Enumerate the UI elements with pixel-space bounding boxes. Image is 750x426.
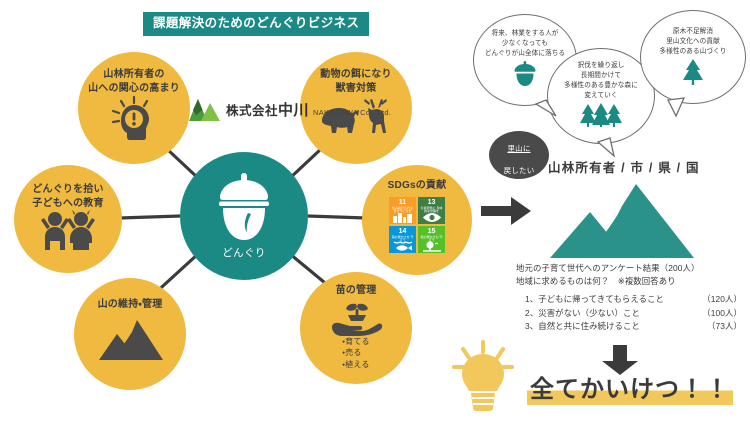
dark-bubble-text: 里山に 戻したい (504, 133, 535, 177)
down-arrow-icon (601, 345, 639, 380)
node-bullets: ・育てる ・売る ・植える (342, 336, 370, 371)
company-main-name: 中川 (278, 102, 309, 119)
survey-item: 1、子どもに帰ってきてもらえること （120人） (516, 293, 742, 307)
node-children-education[interactable]: どんぐりを拾い 子どもへの教育 (14, 165, 122, 273)
node-title: 山林所有者の 山への関心の高まり (88, 68, 180, 95)
eye-icon (418, 212, 445, 223)
node-title: どんぐりを拾い 子どもへの教育 (32, 183, 103, 210)
bubble-text: 原木不足解消 里山文化への貢献 多様性のある山づくり (660, 27, 727, 57)
speech-bubble-selective-logging: 択伐を繰り返し 長期間かけて 多様性のある豊かな森に 変えていく (547, 48, 655, 144)
node-title: 苗の管理 (336, 284, 377, 298)
mountain-icon (97, 318, 163, 360)
stakeholders-label: 山林所有者 / 市 / 県 / 国 (548, 157, 700, 176)
node-forest-owner-interest[interactable]: 山林所有者の 山への関心の高まり (78, 52, 190, 164)
sdg-number: 11 (391, 199, 414, 206)
right-arrow-icon (481, 196, 531, 231)
hand-seedling-icon (328, 300, 384, 336)
company-prefix: 株式会社 (226, 104, 278, 118)
teal-mountain-icon (548, 182, 694, 263)
title-banner: 課題解決のためのどんぐりビジネス (143, 12, 369, 36)
survey-item-value: （120人） (702, 293, 742, 307)
sdg-tile-14: 14 海の豊かさを 守ろう (389, 226, 416, 253)
survey-block: 地元の子育て世代へのアンケート結果（200人） 地域に求めるものは何？ ※複数回… (516, 262, 742, 334)
speech-bubble-satoyama-contribution: 原木不足解消 里山文化への貢献 多様性のある山づくり (640, 10, 746, 104)
survey-item-label: 2、災害がない（少ない）こと (525, 307, 640, 321)
infographic-canvas: 課題解決のためのどんぐりビジネス どんぐり 山林所有者の 山への関心の高まり (0, 0, 750, 426)
survey-item-label: 1、子どもに帰ってきてもらえること (525, 293, 664, 307)
survey-line-1: 地元の子育て世代へのアンケート結果（200人） (516, 262, 742, 275)
sdg-tile-13: 13 気候変動に 具体的な対策を (418, 197, 445, 224)
three-trees-icon (579, 103, 623, 132)
sdg-tile-15: 15 陸の豊かさも 守ろう (418, 226, 445, 253)
survey-items: 1、子どもに帰ってきてもらえること （120人） 2、災害がない（少ない）こと … (516, 293, 742, 334)
node-title: SDGsの貢献 (388, 179, 447, 193)
node-title: 山の維持・管理 (98, 298, 163, 312)
sdg-number: 15 (420, 228, 443, 235)
survey-item: 3、自然と共に住み続けること （73人） (516, 320, 742, 334)
hub-acorn: どんぐり (180, 152, 308, 280)
node-sdgs-contribution[interactable]: SDGsの貢献 11 住み続けられる まちづくりを 13 気候変動に 具体的な対… (362, 165, 472, 275)
sdg-number: 13 (420, 199, 443, 206)
company-name-en: NAKAGAWA Co., Ltd. (313, 108, 391, 117)
dark-bubble-satoyama-wish: 里山に 戻したい (489, 131, 549, 179)
acorn-icon (513, 61, 537, 92)
survey-item-value: （73人） (707, 320, 742, 334)
survey-line-2: 地域に求めるものは何？ ※複数回答あり (516, 275, 742, 288)
survey-item-value: （100人） (702, 307, 742, 321)
company-logo: 株式会社中川 NAKAGAWA Co., Ltd. (188, 97, 391, 126)
company-name-jp: 株式会社中川 (226, 104, 313, 118)
bubble-text: 択伐を繰り返し 長期間かけて 多様性のある豊かな森に 変えていく (564, 61, 638, 101)
node-seedling-management[interactable]: 苗の管理 ・育てる ・売る ・植える (300, 272, 412, 384)
tree-icon (680, 59, 706, 90)
children-icon (39, 210, 97, 252)
node-mountain-maintenance[interactable]: 山の維持・管理 (74, 278, 186, 390)
sdg-number: 14 (391, 228, 414, 235)
acorn-icon (213, 172, 275, 244)
slogan-text: 全てかいけつ！！ (527, 377, 733, 405)
fish-icon (389, 241, 416, 252)
city-icon (389, 212, 416, 223)
survey-item-label: 3、自然と共に住み続けること (525, 320, 640, 334)
sdg-tile-11: 11 住み続けられる まちづくりを (389, 197, 416, 224)
sdg-grid-icon: 11 住み続けられる まちづくりを 13 気候変動に 具体的な対策を 14 海の… (389, 197, 445, 253)
mountain-logo-icon (188, 97, 220, 126)
head-idea-icon (108, 95, 160, 141)
node-title: 動物の餌になり 獣害対策 (320, 68, 391, 95)
dark-bubble-line1: 里山に (507, 144, 530, 153)
tree-birds-icon (418, 241, 445, 252)
survey-item: 2、災害がない（少ない）こと （100人） (516, 307, 742, 321)
lightbulb-icon (452, 340, 514, 417)
dark-bubble-line2: 戻したい (504, 166, 535, 175)
hub-label: どんぐり (222, 245, 266, 260)
bubble-text: 将来、林業をする人が 少なくなっても どんぐりが山全体に落ちる (485, 29, 565, 59)
